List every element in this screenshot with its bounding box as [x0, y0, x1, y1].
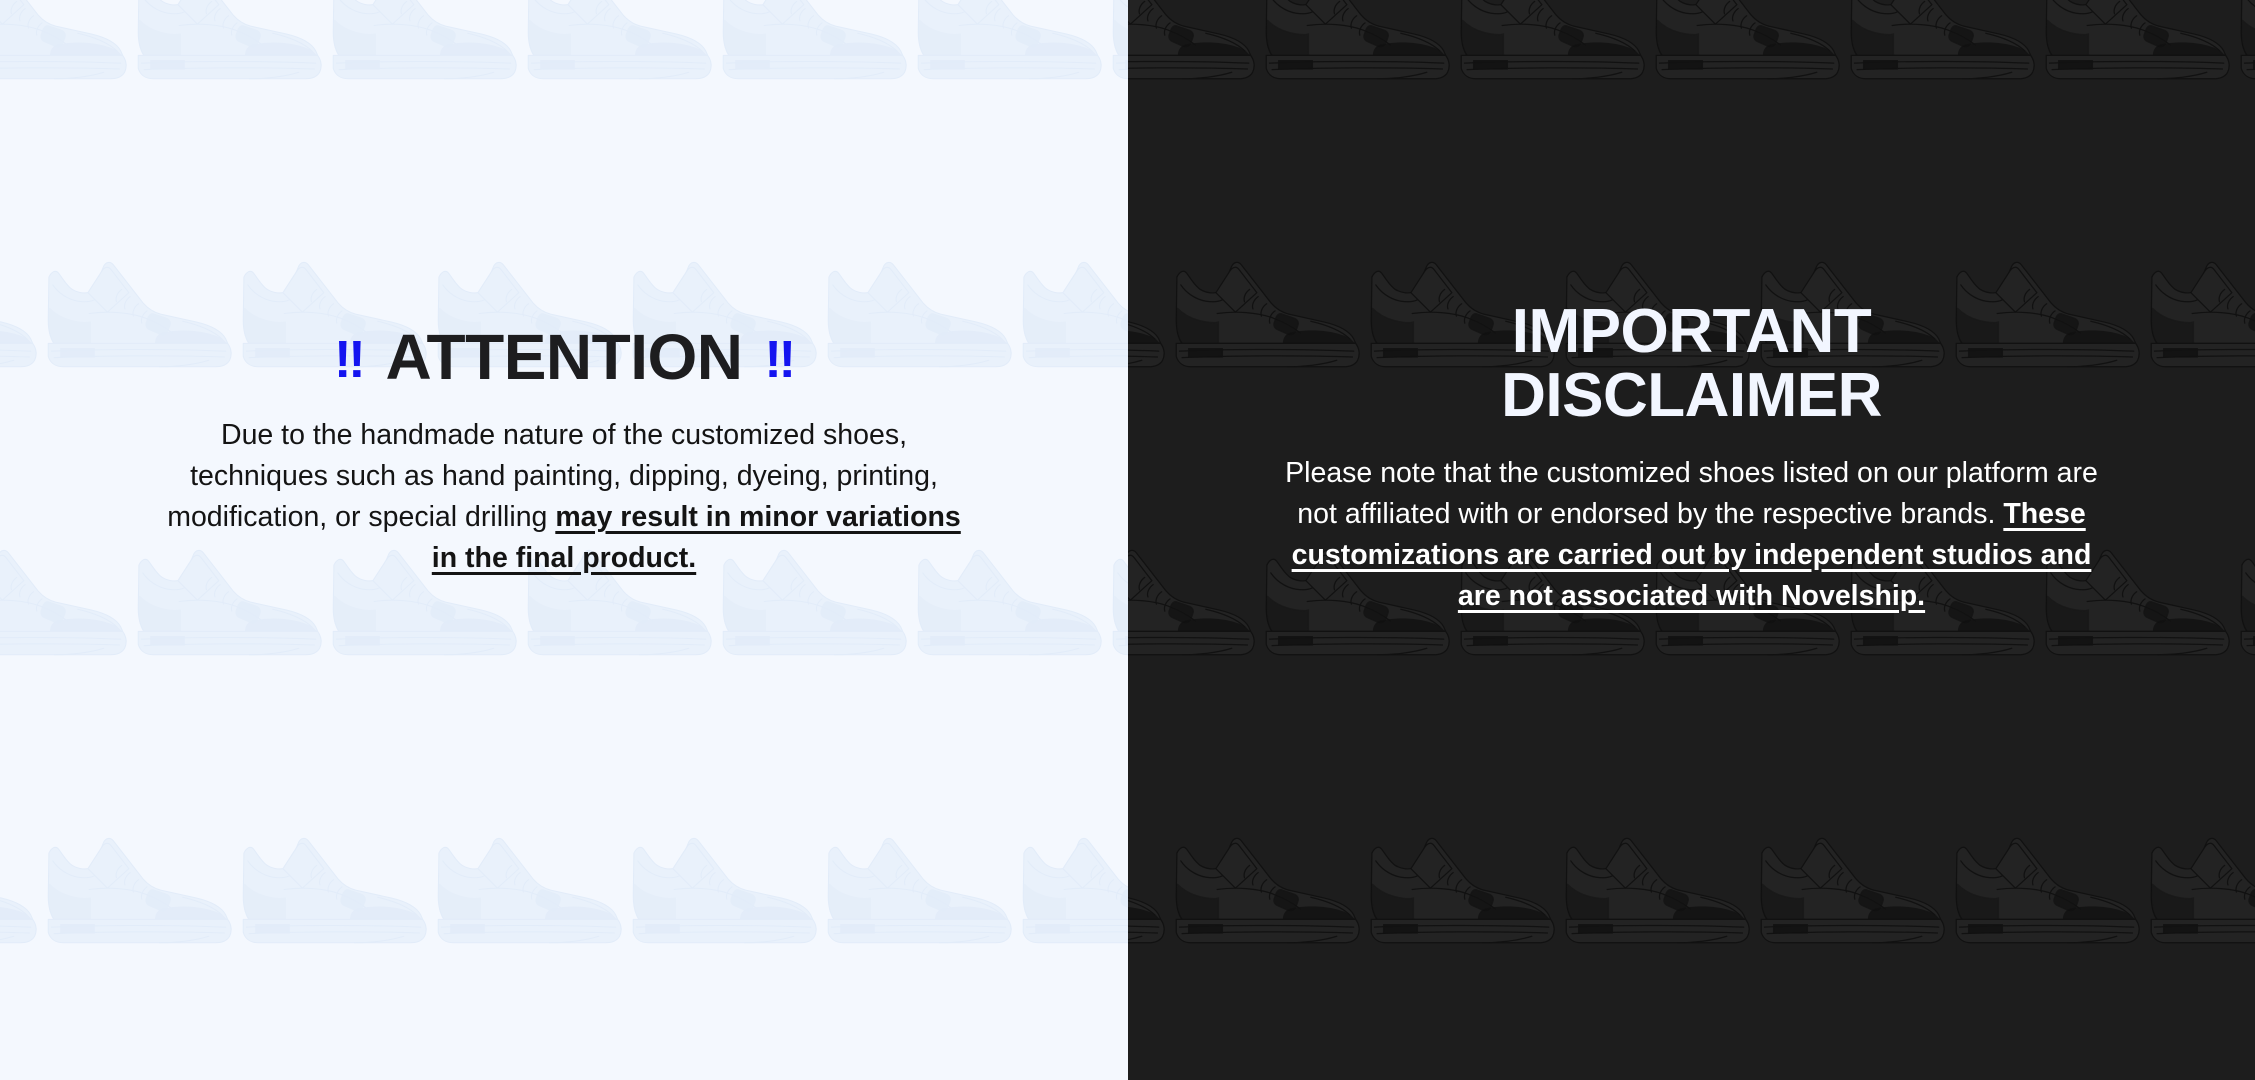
sneaker-pattern-row: [0, 794, 1128, 983]
double-exclamation-icon-right: ‼: [764, 331, 793, 389]
disclaimer-panel: IMPORTANT DISCLAIMER Please note that th…: [1128, 0, 2255, 1080]
disclaimer-body: Please note that the customized shoes li…: [1282, 453, 2102, 617]
attention-content: ‼ATTENTION‼ Due to the handmade nature o…: [0, 325, 1128, 579]
attention-body: Due to the handmade nature of the custom…: [164, 415, 964, 579]
disclaimer-heading: IMPORTANT DISCLAIMER: [1382, 300, 2002, 429]
disclaimer-body-normal: Please note that the customized shoes li…: [1285, 457, 2098, 530]
attention-heading-text: ATTENTION: [386, 321, 743, 393]
disclaimer-content: IMPORTANT DISCLAIMER Please note that th…: [1128, 300, 2255, 617]
disclaimer-banner: ‼ATTENTION‼ Due to the handmade nature o…: [0, 0, 2255, 1080]
sneaker-pattern-row: [0, 0, 1128, 119]
double-exclamation-icon-left: ‼: [334, 331, 363, 389]
sneaker-pattern-row: [1128, 794, 2255, 983]
attention-panel: ‼ATTENTION‼ Due to the handmade nature o…: [0, 0, 1128, 1080]
sneaker-pattern-row: [1128, 0, 2255, 119]
attention-heading: ‼ATTENTION‼: [0, 325, 1128, 389]
